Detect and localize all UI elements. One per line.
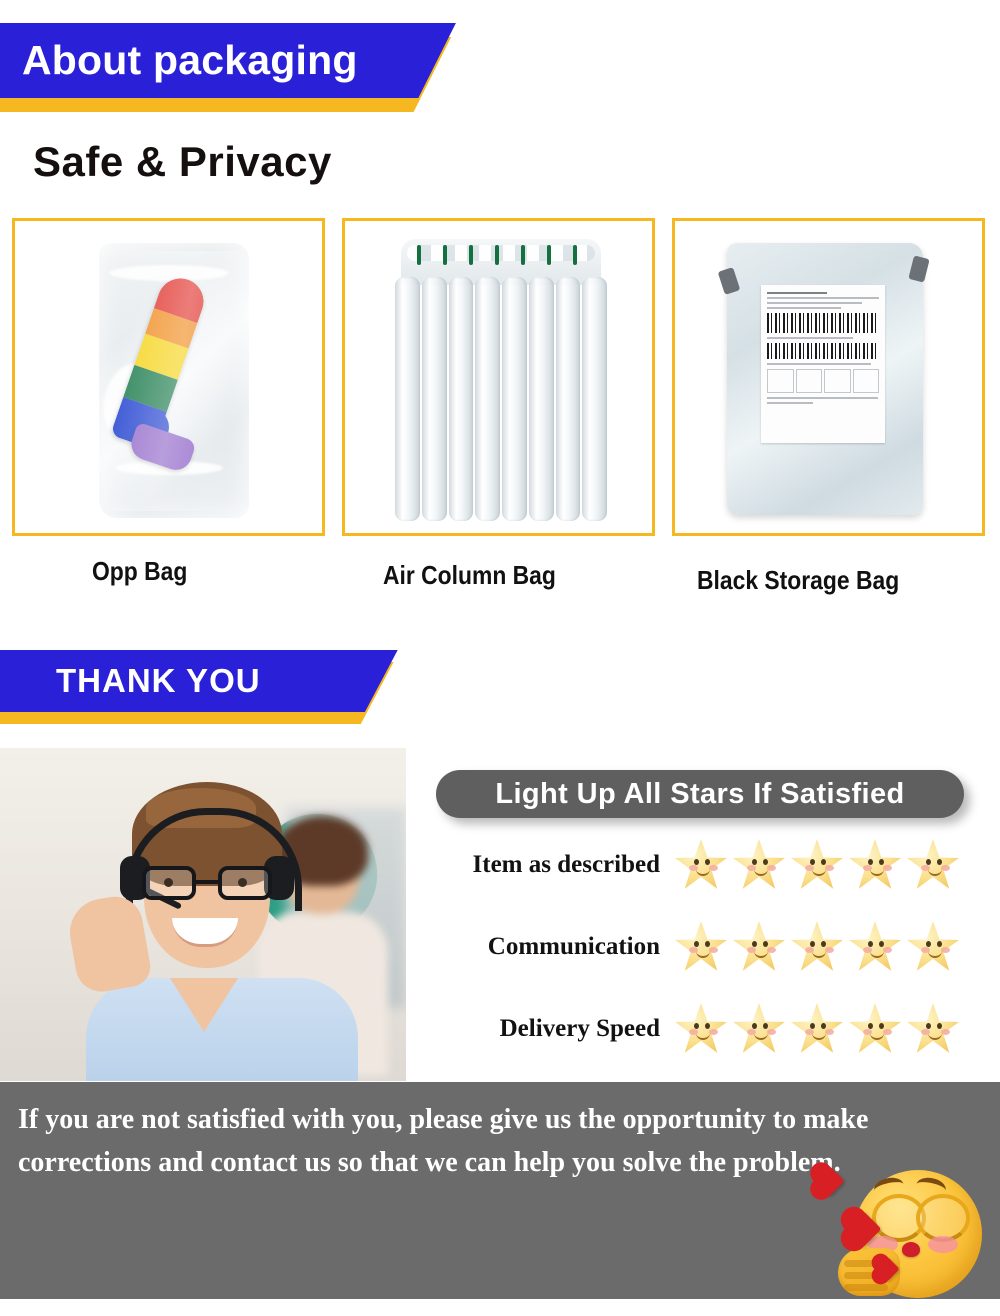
air-column xyxy=(422,277,447,521)
packaging-infographic: About packaging Safe & Privacy 1 2 xyxy=(0,0,1000,1299)
label-line xyxy=(767,292,827,294)
inflation-nozzle xyxy=(573,245,577,265)
star-icon[interactable] xyxy=(732,1002,786,1056)
banner-plate: About packaging xyxy=(0,23,470,98)
star-icon[interactable] xyxy=(848,1002,902,1056)
panel-caption-1: Opp Bag xyxy=(92,556,187,587)
star-icon[interactable] xyxy=(790,838,844,892)
poly-mailer-artwork xyxy=(727,243,923,515)
ratings-title-pill: Light Up All Stars If Satisfied xyxy=(436,770,964,818)
thank-you-banner: THANK YOU xyxy=(0,650,410,712)
star-icon[interactable] xyxy=(674,838,728,892)
about-packaging-label: About packaging xyxy=(0,37,358,84)
about-packaging-banner: About packaging xyxy=(0,23,470,98)
agent-eye-right xyxy=(238,878,247,887)
mailer-corner xyxy=(908,255,929,282)
emoji-lips xyxy=(902,1242,920,1257)
star-rating-delivery-speed xyxy=(674,1002,960,1056)
air-column xyxy=(502,277,527,521)
label-line xyxy=(767,297,879,299)
inflation-nozzle xyxy=(547,245,551,265)
thank-you-label: THANK YOU xyxy=(0,662,261,700)
inflation-nozzle xyxy=(469,245,473,265)
label-cell xyxy=(824,369,851,393)
ratings-title-label: Light Up All Stars If Satisfied xyxy=(495,778,904,811)
air-column xyxy=(475,277,500,521)
bag-sheen xyxy=(103,251,249,511)
inflation-nozzle xyxy=(443,245,447,265)
packaging-panel-storage-bag: 3 xyxy=(672,218,985,536)
agent-eye-left xyxy=(164,878,173,887)
panel-caption-3: Black Storage Bag xyxy=(697,565,899,596)
star-icon[interactable] xyxy=(790,920,844,974)
emoji-blush-right xyxy=(928,1236,958,1253)
panel-badge-3: 3 xyxy=(691,235,737,281)
banner-plate: THANK YOU xyxy=(0,650,410,712)
label-line xyxy=(767,402,813,404)
air-columns xyxy=(395,277,607,521)
packaging-panel-opp-bag: 1 xyxy=(12,218,325,536)
star-icon[interactable] xyxy=(906,920,960,974)
star-rating-communication xyxy=(674,920,960,974)
label-line xyxy=(767,307,841,309)
heart-icon xyxy=(813,1165,844,1196)
star-icon[interactable] xyxy=(848,838,902,892)
page-title: Safe & Privacy xyxy=(33,138,332,186)
label-line xyxy=(767,397,878,399)
inflation-nozzle xyxy=(521,245,525,265)
inflation-nozzle xyxy=(495,245,499,265)
star-icon[interactable] xyxy=(790,1002,844,1056)
emoji-closed-eye-right xyxy=(916,1194,970,1242)
opp-bag-artwork xyxy=(85,235,265,525)
label-line xyxy=(767,363,871,365)
barcode xyxy=(767,343,879,359)
ratings-section: Light Up All Stars If Satisfied Item as … xyxy=(428,770,988,1064)
label-cell xyxy=(767,369,794,393)
air-column-bag-artwork xyxy=(395,239,607,521)
label-table xyxy=(767,369,879,393)
packaging-panel-air-column-bag: 2 xyxy=(342,218,655,536)
star-icon[interactable] xyxy=(674,1002,728,1056)
panel-caption-2: Air Column Bag xyxy=(383,560,556,591)
panel-badge-1: 1 xyxy=(31,235,77,281)
blowing-kiss-emoji xyxy=(838,1164,990,1316)
star-icon[interactable] xyxy=(732,838,786,892)
label-cell xyxy=(853,369,880,393)
air-column xyxy=(556,277,581,521)
air-column xyxy=(529,277,554,521)
label-line xyxy=(767,302,862,304)
air-column xyxy=(449,277,474,521)
shirt-collar xyxy=(170,978,238,1032)
star-rating-item-as-described xyxy=(674,838,960,892)
agent-glasses xyxy=(142,866,272,900)
air-column xyxy=(395,277,420,521)
panel-badge-2: 2 xyxy=(361,235,407,281)
glasses-bridge xyxy=(196,880,218,884)
label-line xyxy=(767,337,853,339)
star-icon[interactable] xyxy=(674,920,728,974)
agent-figure xyxy=(96,782,346,1081)
inflation-nozzle xyxy=(417,245,421,265)
support-agent-photo xyxy=(0,748,406,1081)
rating-row-item-as-described: Item as described xyxy=(428,830,988,900)
star-icon[interactable] xyxy=(848,920,902,974)
star-icon[interactable] xyxy=(906,1002,960,1056)
rating-row-communication: Communication xyxy=(428,912,988,982)
pill-shape: Light Up All Stars If Satisfied xyxy=(436,770,964,818)
rating-row-delivery-speed: Delivery Speed xyxy=(428,994,988,1064)
shipping-label xyxy=(761,285,885,443)
rating-label: Item as described xyxy=(428,851,674,879)
barcode xyxy=(767,313,879,333)
rating-label: Delivery Speed xyxy=(428,1015,674,1043)
rating-label: Communication xyxy=(428,933,674,961)
agent-shirt xyxy=(86,978,358,1081)
label-cell xyxy=(796,369,823,393)
star-icon[interactable] xyxy=(732,920,786,974)
star-icon[interactable] xyxy=(906,838,960,892)
air-column xyxy=(582,277,607,521)
